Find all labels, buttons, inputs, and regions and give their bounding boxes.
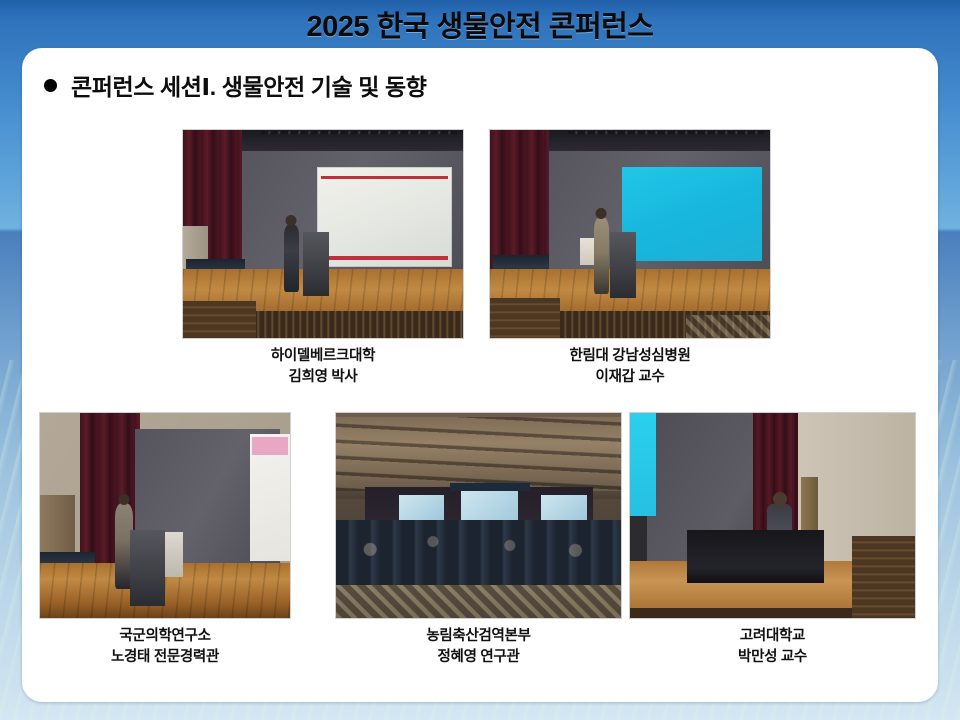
scene-banner xyxy=(250,434,290,561)
caption-photo-armed-forces: 국군의학연구소 노경태 전문경력관 xyxy=(40,626,290,668)
slide-title-bar: 2025 한국 생물안전 콘퍼런스 xyxy=(0,0,960,48)
caption-photo-quarantine: 농림축산검역본부 정혜영 연구관 xyxy=(336,626,621,668)
scene-podium xyxy=(130,530,165,606)
photo-quarantine xyxy=(336,413,621,618)
scene-projection-screen xyxy=(622,167,762,261)
scene-speaker-head xyxy=(773,492,787,506)
scene-podium xyxy=(610,232,635,299)
caption-line-1: 농림축산검역본부 xyxy=(336,626,621,647)
scene-carpet xyxy=(686,315,770,338)
caption-line-1: 하이델베르크대학 xyxy=(183,346,463,367)
scene-side-table xyxy=(165,532,183,577)
bullet-dot-icon xyxy=(44,79,57,92)
scene-hall-banner xyxy=(450,483,530,491)
scene-hall-carpet xyxy=(336,585,621,618)
scene-table xyxy=(687,530,824,583)
caption-line-2: 김희영 박사 xyxy=(183,367,463,388)
scene-stage-steps xyxy=(183,301,256,338)
photo-korea-univ xyxy=(630,413,915,618)
scene-stage-steps xyxy=(490,298,560,338)
presentation-slide: 2025 한국 생물안전 콘퍼런스 콘퍼런스 세션Ⅰ. 생물안전 기술 및 동향 xyxy=(0,0,960,720)
scene-speaker-head xyxy=(118,494,129,505)
scene-hall-screen-left xyxy=(399,495,445,520)
caption-photo-hallym: 한림대 강남성심병원 이재갑 교수 xyxy=(490,346,770,388)
caption-line-2: 이재갑 교수 xyxy=(490,367,770,388)
scene-speaker xyxy=(594,217,609,294)
scene-podium xyxy=(303,232,328,296)
scene-ceiling-grid xyxy=(568,131,764,135)
caption-line-2: 박만성 교수 xyxy=(630,647,915,668)
scene-hall-screen-right xyxy=(541,495,587,520)
scene-speaker-head xyxy=(286,215,297,226)
photo-heidelberg xyxy=(183,130,463,338)
scene-ceiling-grid xyxy=(261,131,457,135)
section-heading-label: 콘퍼런스 세션Ⅰ. 생물안전 기술 및 동향 xyxy=(71,68,427,102)
caption-line-1: 국군의학연구소 xyxy=(40,626,290,647)
scene-speaker-head xyxy=(596,208,607,219)
caption-line-2: 정혜영 연구관 xyxy=(336,647,621,668)
caption-line-1: 고려대학교 xyxy=(630,626,915,647)
scene-stage-steps xyxy=(852,536,915,618)
scene-stage-front xyxy=(630,608,852,618)
scene-projection-screen-edge xyxy=(630,413,656,516)
caption-photo-korea-univ: 고려대학교 박만성 교수 xyxy=(630,626,915,668)
content-panel: 콘퍼런스 세션Ⅰ. 생물안전 기술 및 동향 하이델베르크대학 김희영 박사 xyxy=(22,48,938,702)
scene-projection-screen xyxy=(317,167,451,267)
scene-curtain xyxy=(490,130,549,276)
section-heading: 콘퍼런스 세션Ⅰ. 생물안전 기술 및 동향 xyxy=(44,68,427,102)
slide-title: 2025 한국 생물안전 콘퍼런스 xyxy=(307,3,654,45)
photo-armed-forces xyxy=(40,413,290,618)
caption-line-1: 한림대 강남성심병원 xyxy=(490,346,770,367)
caption-line-2: 노경태 전문경력관 xyxy=(40,647,290,668)
scene-banner-header xyxy=(252,437,287,455)
photo-hallym xyxy=(490,130,770,338)
caption-photo-heidelberg: 하이델베르크대학 김희영 박사 xyxy=(183,346,463,388)
scene-speaker xyxy=(284,224,299,293)
scene-hall-beams xyxy=(336,417,621,491)
